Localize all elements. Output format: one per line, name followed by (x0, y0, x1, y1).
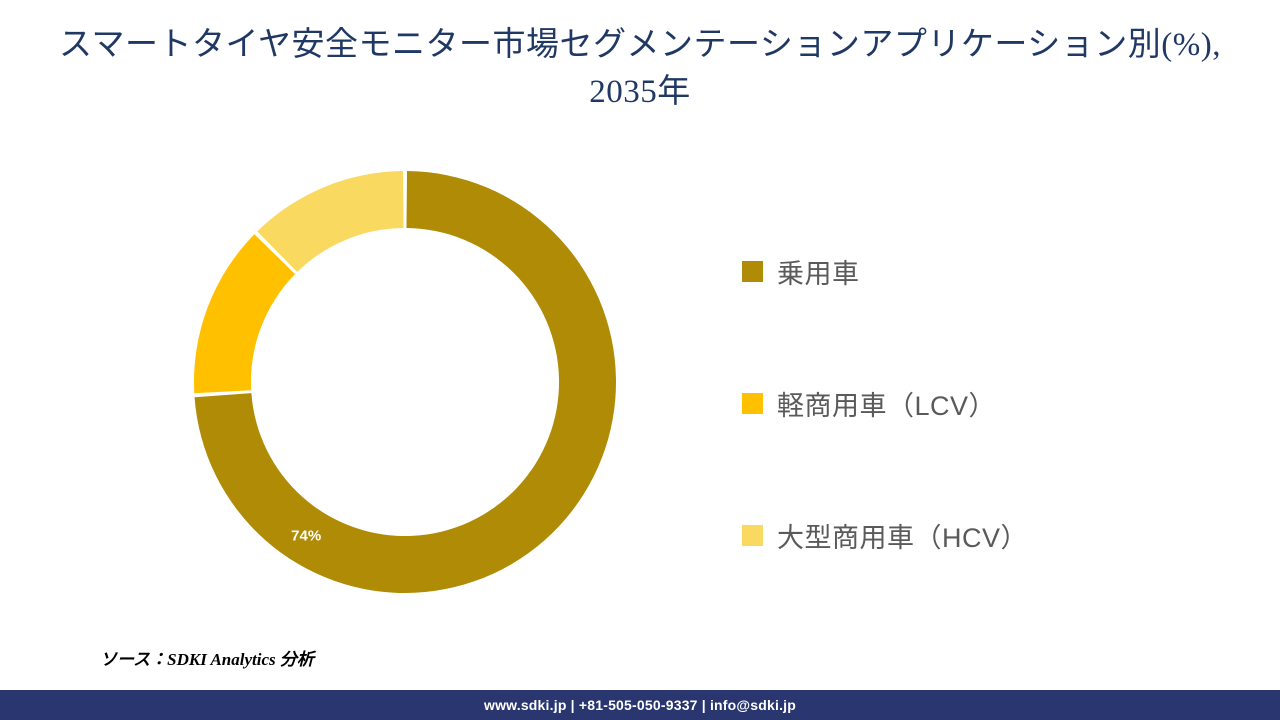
donut-slice-lcv[interactable] (194, 234, 295, 393)
donut-slice-passenger-car[interactable] (195, 171, 616, 593)
source-note: ソース：SDKI Analytics 分析 (100, 645, 314, 670)
legend-item-passenger-car[interactable]: 乗用車 (742, 205, 1212, 337)
donut-slices (194, 171, 616, 593)
slide-canvas: スマートタイヤ安全モニター市場セグメンテーションアプリケーション別(%), 20… (0, 0, 1280, 720)
donut-chart-svg: 74% (190, 167, 620, 597)
chart-plot-area: 74% (150, 150, 670, 620)
legend-item-hcv[interactable]: 大型商用車（HCV） (742, 469, 1212, 601)
legend-label-passenger-car: 乗用車 (777, 252, 860, 291)
legend-label-hcv: 大型商用車（HCV） (777, 516, 1028, 555)
chart-legend: 乗用車 軽商用車（LCV） 大型商用車（HCV） (742, 205, 1212, 601)
legend-label-lcv: 軽商用車（LCV） (777, 384, 996, 423)
footer-bar: www.sdki.jp | +81-505-050-9337 | info@sd… (0, 690, 1280, 720)
donut-chart: 74% (190, 167, 620, 597)
legend-swatch-icon-hcv (742, 525, 763, 546)
donut-slice-hcv[interactable] (257, 171, 403, 272)
legend-swatch-icon-lcv (742, 393, 763, 414)
page-title: スマートタイヤ安全モニター市場セグメンテーションアプリケーション別(%), 20… (50, 22, 1230, 116)
legend-item-lcv[interactable]: 軽商用車（LCV） (742, 337, 1212, 469)
footer-contact-text: www.sdki.jp | +81-505-050-9337 | info@sd… (484, 697, 796, 713)
legend-swatch-icon-passenger-car (742, 261, 763, 282)
donut-slice-label-passenger-car: 74% (291, 527, 321, 544)
